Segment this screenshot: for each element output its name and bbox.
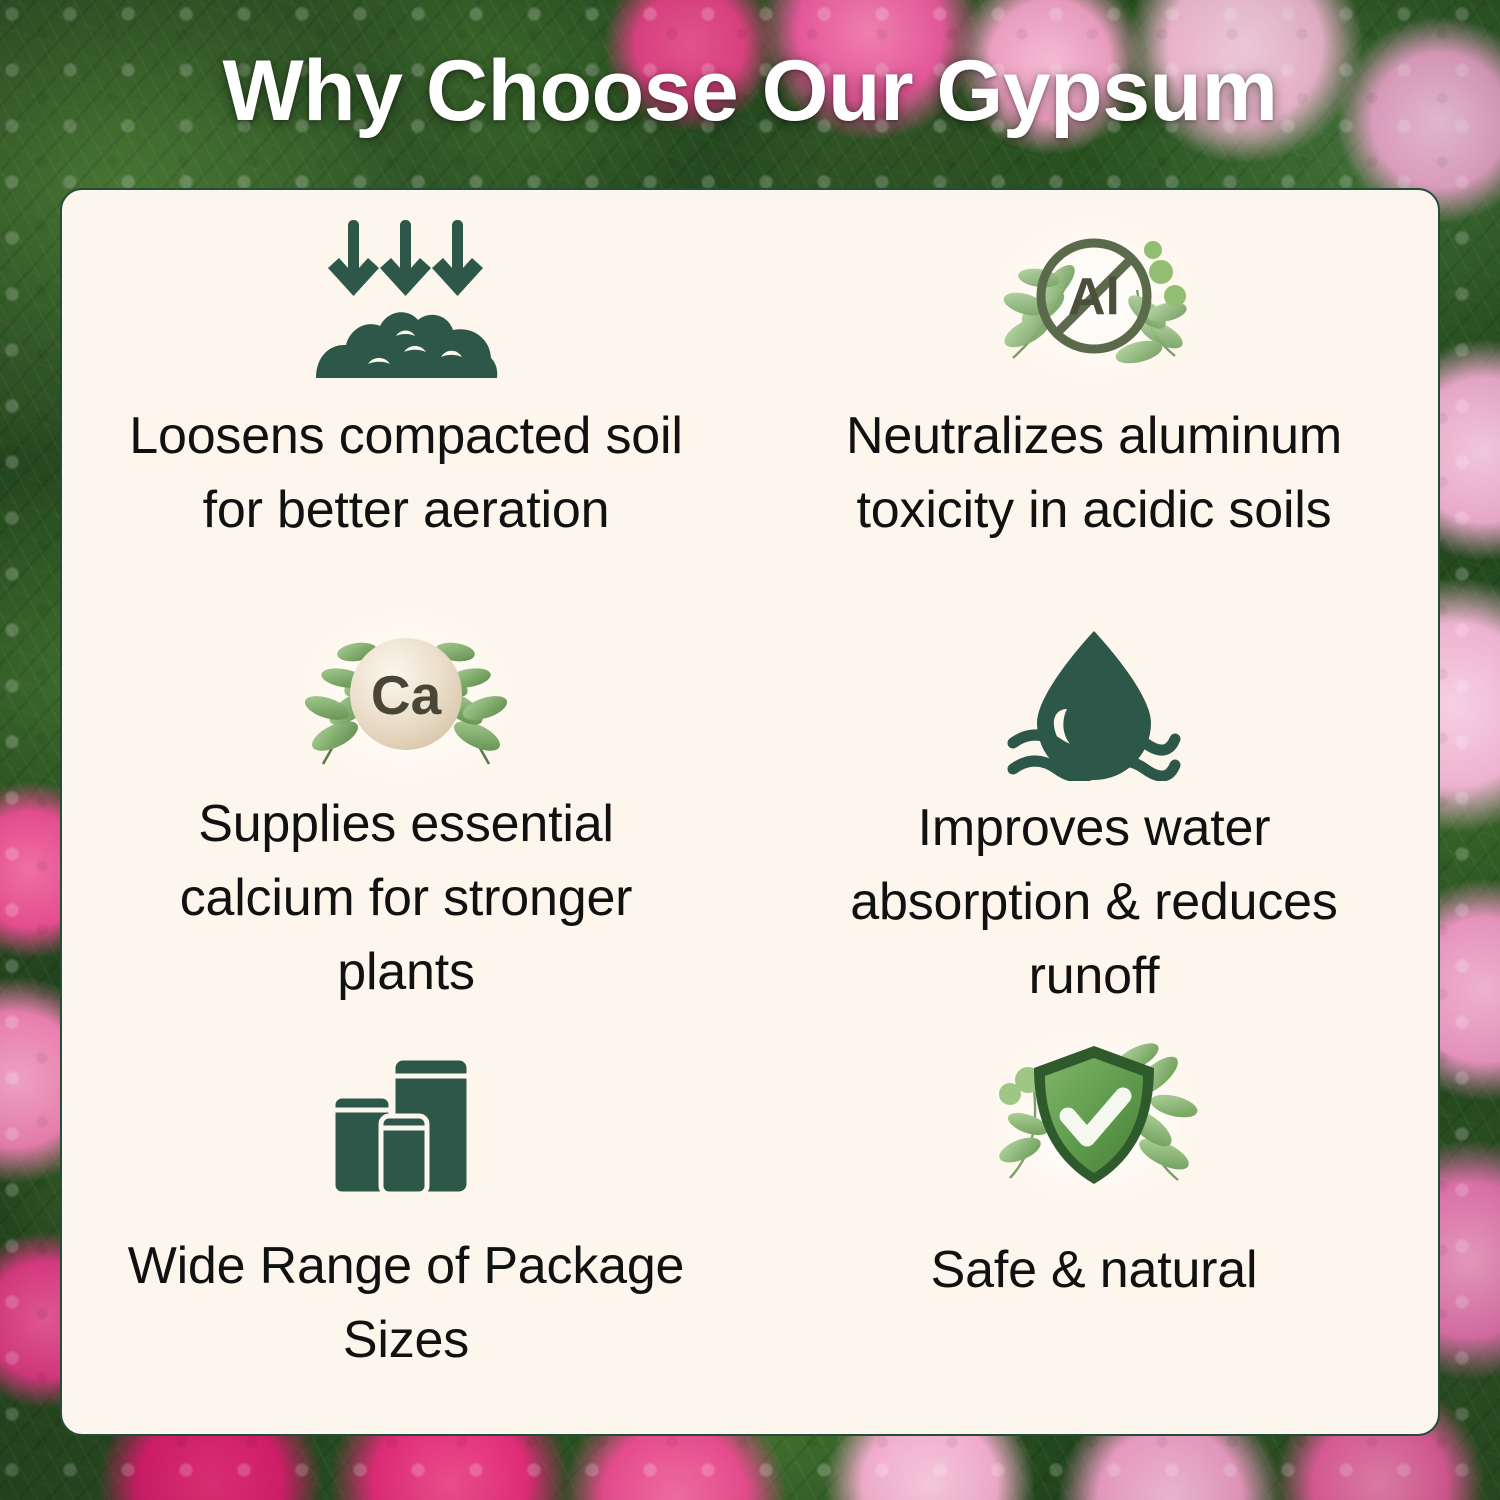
benefits-card: Loosens compacted soil for better aerati… — [60, 188, 1440, 1436]
benefit-text: Neutralizes aluminum toxicity in acidic … — [794, 400, 1394, 548]
benefit-item-package-sizes: Wide Range of Package Sizes — [62, 1024, 750, 1434]
benefits-grid: Loosens compacted soil for better aerati… — [62, 190, 1438, 1434]
benefit-item-safe-natural: Safe & natural — [750, 1024, 1438, 1434]
soil-aeration-icon — [308, 212, 504, 388]
al-symbol-text: Al — [1068, 268, 1120, 326]
aluminum-neutralize-icon: Al — [991, 212, 1197, 388]
package-sizes-icon — [315, 1038, 497, 1214]
benefit-text: Supplies essential calcium for stronger … — [106, 788, 706, 1009]
benefit-item-soil-aeration: Loosens compacted soil for better aerati… — [62, 190, 750, 600]
benefit-text: Wide Range of Package Sizes — [106, 1230, 706, 1378]
safe-natural-icon — [988, 1028, 1200, 1204]
water-absorption-icon — [1001, 618, 1187, 788]
benefit-item-aluminum-neutralize: Al Neutralizes aluminum toxicity in acid… — [750, 190, 1438, 600]
benefit-text: Loosens compacted soil for better aerati… — [106, 400, 706, 548]
benefit-text: Safe & natural — [931, 1234, 1258, 1308]
page-title: Why Choose Our Gypsum — [0, 46, 1500, 136]
ca-symbol-text: Ca — [371, 664, 442, 726]
calcium-icon: Ca — [297, 608, 515, 784]
benefit-item-calcium: Ca Supplies essential calcium for strong… — [62, 600, 750, 1023]
benefit-item-water-absorption: Improves water absorption & reduces runo… — [750, 600, 1438, 1023]
benefit-text: Improves water absorption & reduces runo… — [794, 792, 1394, 1013]
